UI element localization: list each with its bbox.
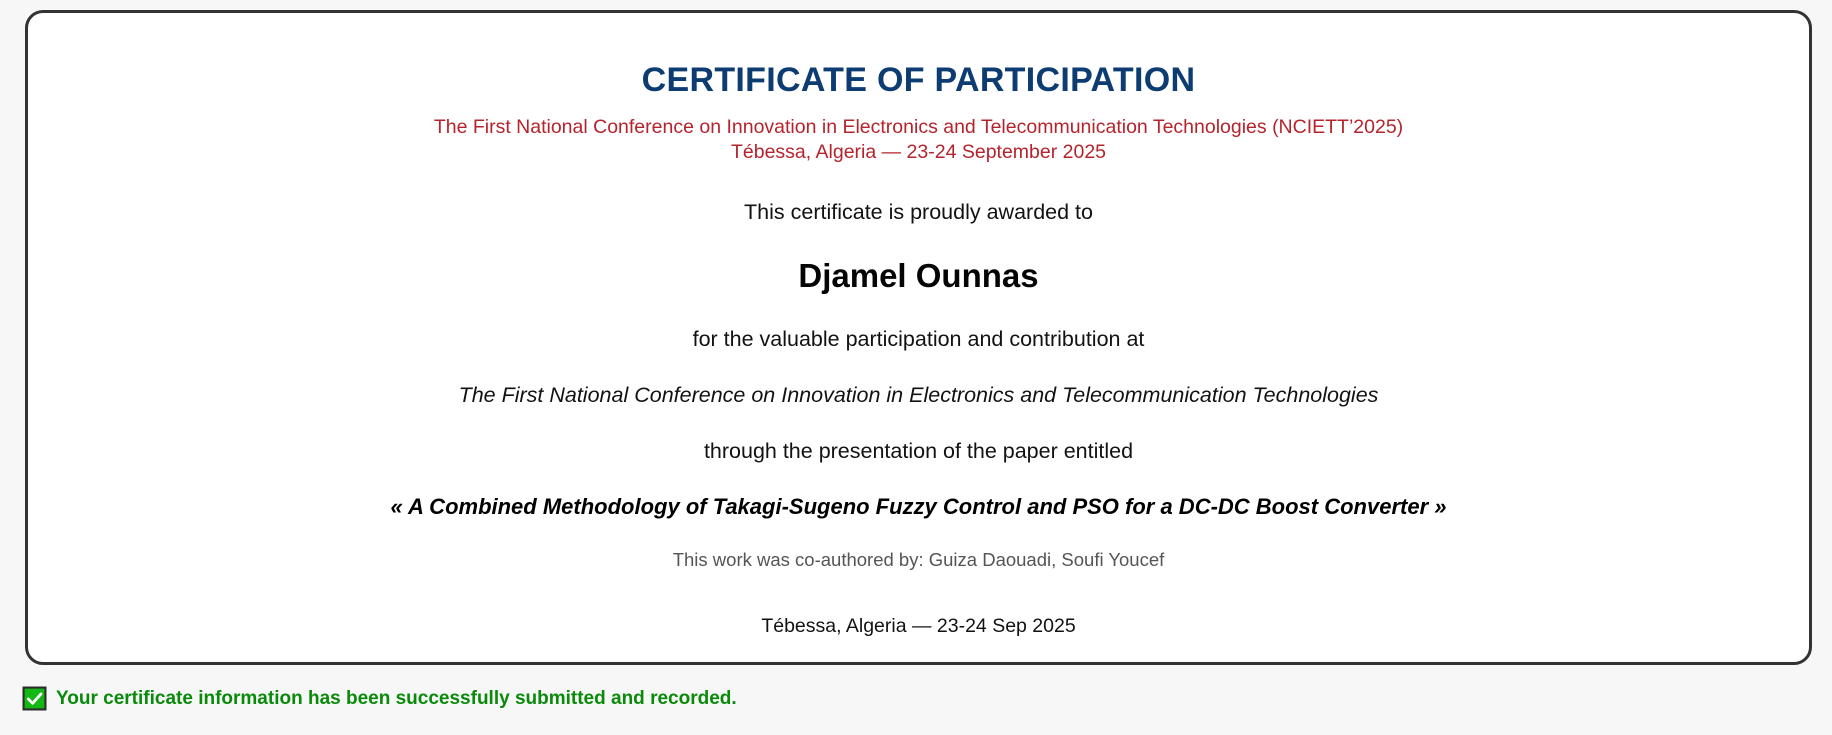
page-title: CERTIFICATE OF PARTICIPATION bbox=[28, 61, 1809, 99]
conference-name: The First National Conference on Innovat… bbox=[28, 383, 1809, 409]
conference-subtitle: The First National Conference on Innovat… bbox=[28, 115, 1809, 165]
coauthors-label: This work was co-authored by: Guiza Daou… bbox=[28, 549, 1809, 571]
paper-title: « A Combined Methodology of Takagi-Sugen… bbox=[28, 494, 1809, 520]
check-box-icon bbox=[22, 686, 47, 711]
recipient-name: Djamel Ounnas bbox=[28, 256, 1809, 296]
status-message-text: Your certificate information has been su… bbox=[56, 689, 737, 708]
certificate-page: CERTIFICATE OF PARTICIPATION The First N… bbox=[0, 0, 1832, 735]
presentation-label: through the presentation of the paper en… bbox=[28, 439, 1809, 465]
status-message-bar: Your certificate information has been su… bbox=[22, 686, 737, 711]
contribution-label: for the valuable participation and contr… bbox=[28, 327, 1809, 353]
place-and-date: Tébessa, Algeria — 23-24 Sep 2025 bbox=[28, 615, 1809, 638]
conference-subtitle-line-1: The First National Conference on Innovat… bbox=[28, 115, 1809, 140]
awarded-to-label: This certificate is proudly awarded to bbox=[28, 200, 1809, 226]
conference-subtitle-line-2: Tébessa, Algeria — 23-24 September 2025 bbox=[28, 140, 1809, 165]
certificate-card: CERTIFICATE OF PARTICIPATION The First N… bbox=[25, 10, 1812, 665]
